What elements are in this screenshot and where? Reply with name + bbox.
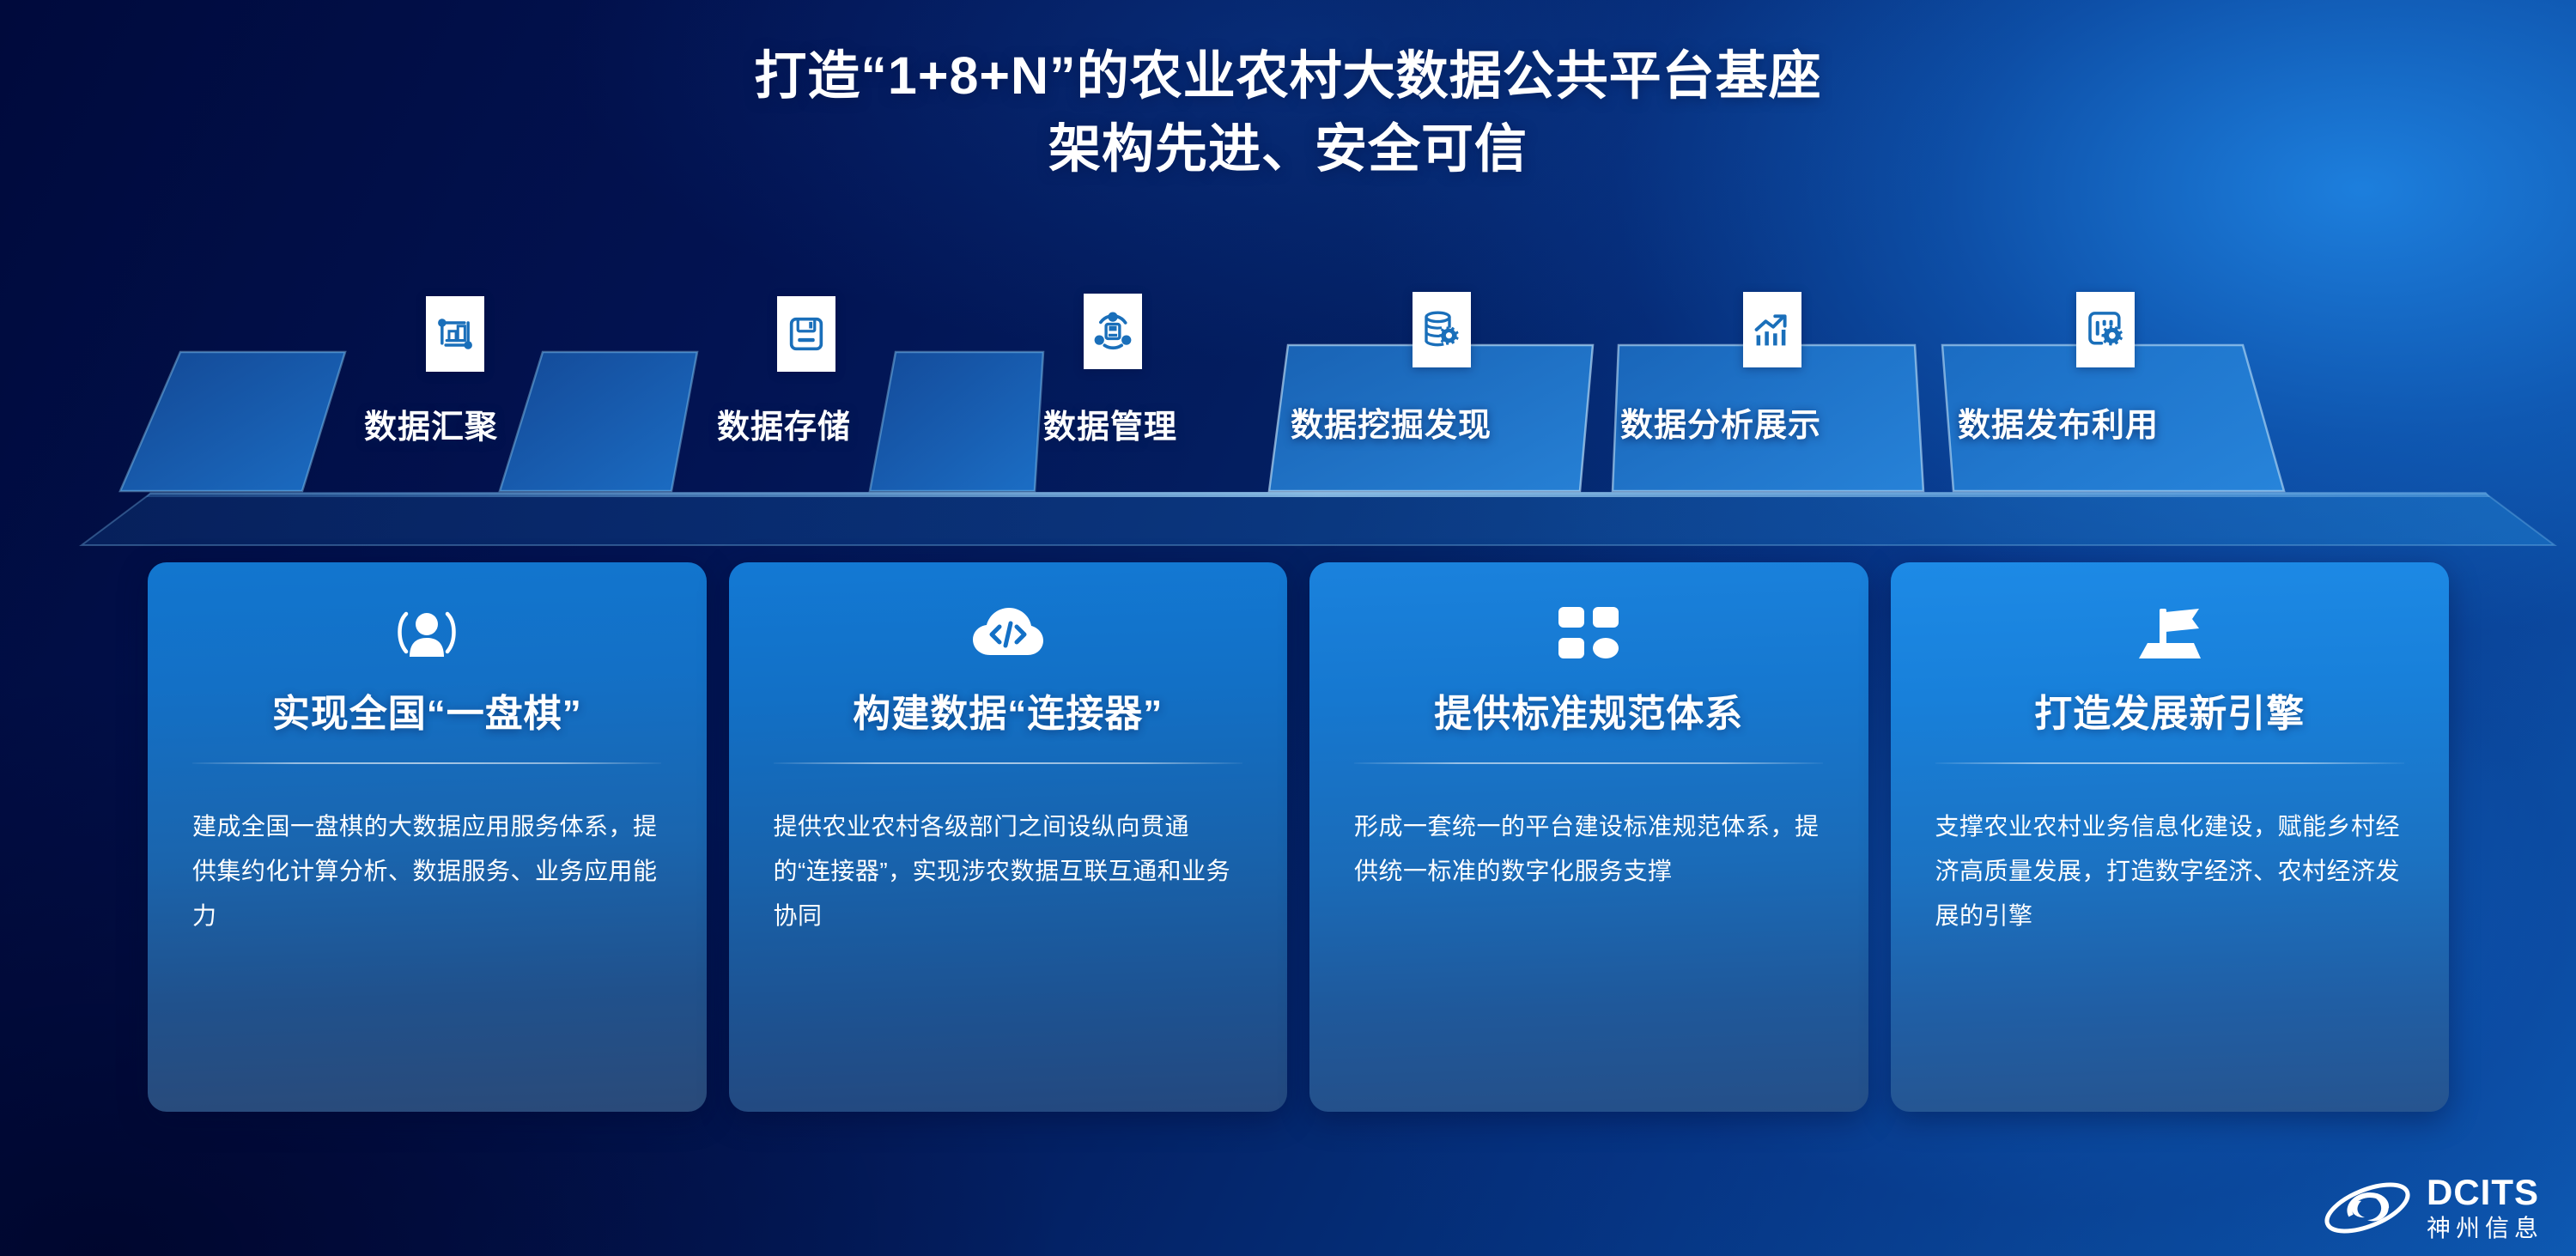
title-line-2: 架构先进、安全可信 bbox=[0, 112, 2576, 185]
title-line-1: 打造“1+8+N”的农业农村大数据公共平台基座 bbox=[0, 39, 2576, 112]
feature-card-4-divider bbox=[1935, 762, 2404, 764]
platform-slab-3 bbox=[870, 352, 1043, 491]
logo-en-text: DCITS bbox=[2427, 1174, 2543, 1210]
platform-item-2-label: 数据存储 bbox=[717, 400, 851, 447]
grid-blocks-icon bbox=[1309, 605, 1868, 664]
feature-card-2[interactable]: 构建数据“连接器” 提供农业农村各级部门之间设纵向贯通的“连接器”，实现涉农数据… bbox=[729, 562, 1288, 1112]
platform-item-3-label: 数据管理 bbox=[1043, 400, 1177, 447]
data-nodes-icon bbox=[1084, 294, 1142, 369]
platform-deck bbox=[82, 494, 2555, 545]
feature-card-3-divider bbox=[1354, 762, 1823, 764]
feature-card-1[interactable]: 实现全国“一盘棋” 建成全国一盘棋的大数据应用服务体系，提供集约化计算分析、数据… bbox=[148, 562, 707, 1112]
logo-text: DCITS 神州信息 bbox=[2427, 1174, 2543, 1241]
feature-card-1-divider bbox=[192, 762, 661, 764]
page-title: 打造“1+8+N”的农业农村大数据公共平台基座 架构先进、安全可信 bbox=[0, 39, 2576, 185]
database-gear-icon bbox=[1413, 292, 1471, 367]
platform-item-1-label: 数据汇聚 bbox=[364, 400, 498, 447]
dcits-logo: DCITS 神州信息 bbox=[2320, 1174, 2543, 1241]
feature-card-4-title: 打造发展新引擎 bbox=[1891, 683, 2450, 737]
feature-card-3[interactable]: 提供标准规范体系 形成一套统一的平台建设标准规范体系，提供统一标准的数字化服务支… bbox=[1309, 562, 1868, 1112]
feature-card-3-body: 形成一套统一的平台建设标准规范体系，提供统一标准的数字化服务支撑 bbox=[1354, 804, 1823, 894]
platform-item-5-label: 数据分析展示 bbox=[1620, 398, 1821, 446]
feature-card-4[interactable]: 打造发展新引擎 支撑农业农村业务信息化建设，赋能乡村经济高质量发展，打造数字经济… bbox=[1891, 562, 2450, 1112]
feature-card-1-body: 建成全国一盘棋的大数据应用服务体系，提供集约化计算分析、数据服务、业务应用能力 bbox=[192, 804, 661, 938]
logo-cn-text: 神州信息 bbox=[2427, 1217, 2543, 1241]
flag-icon bbox=[1891, 605, 2450, 664]
feature-card-2-title: 构建数据“连接器” bbox=[729, 683, 1288, 737]
feature-card-3-title: 提供标准规范体系 bbox=[1309, 683, 1868, 737]
feature-card-4-body: 支撑农业农村业务信息化建设，赋能乡村经济高质量发展，打造数字经济、农村经济发展的… bbox=[1935, 804, 2404, 938]
slide-canvas: 打造“1+8+N”的农业农村大数据公共平台基座 架构先进、安全可信 bbox=[0, 0, 2576, 1256]
platform-rim bbox=[146, 492, 2490, 497]
bar-chart-flow-icon bbox=[426, 296, 484, 372]
floppy-disk-icon bbox=[777, 296, 835, 372]
users-icon bbox=[148, 605, 707, 667]
panel-gear-icon bbox=[2076, 292, 2135, 367]
platform-slab-1 bbox=[120, 352, 345, 491]
feature-card-2-divider bbox=[774, 762, 1242, 764]
feature-cards: 实现全国“一盘棋” 建成全国一盘棋的大数据应用服务体系，提供集约化计算分析、数据… bbox=[148, 562, 2449, 1112]
platform-item-6-label: 数据发布利用 bbox=[1958, 398, 2159, 446]
dcits-swirl-icon bbox=[2320, 1175, 2415, 1241]
cloud-code-icon bbox=[729, 605, 1288, 662]
platform-item-4-label: 数据挖掘发现 bbox=[1291, 398, 1492, 446]
feature-card-2-body: 提供农业农村各级部门之间设纵向贯通的“连接器”，实现涉农数据互联互通和业务协同 bbox=[774, 804, 1242, 938]
platform-slab-2 bbox=[500, 352, 697, 491]
trend-bar-chart-icon bbox=[1743, 292, 1801, 367]
feature-card-1-title: 实现全国“一盘棋” bbox=[148, 683, 707, 737]
